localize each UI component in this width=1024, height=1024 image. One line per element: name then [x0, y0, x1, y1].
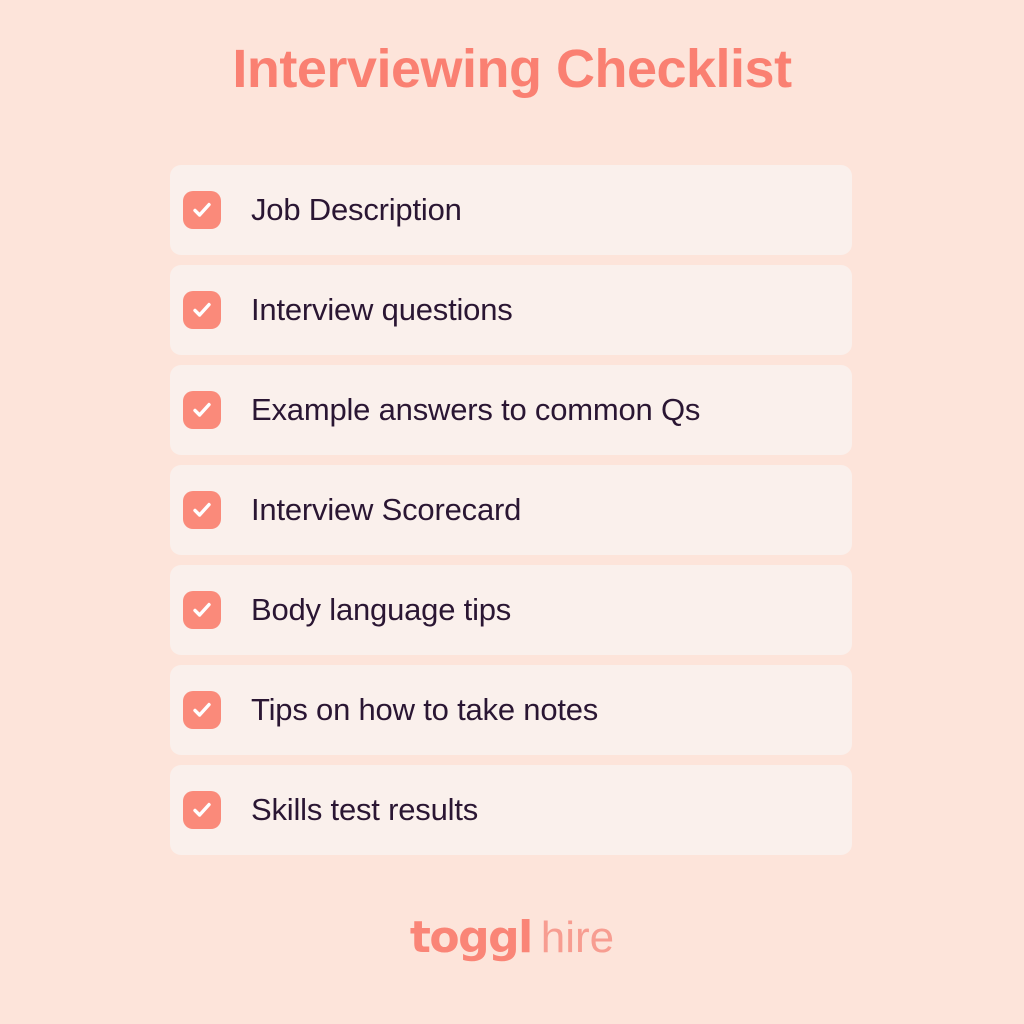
checkbox-checked[interactable]	[183, 491, 221, 529]
toggl-hire-logo: togglhire	[0, 910, 1024, 976]
logo-toggl-wordmark: toggl	[410, 912, 532, 963]
checklist: Job DescriptionInterview questionsExampl…	[170, 165, 852, 855]
checkbox-checked[interactable]	[183, 791, 221, 829]
checkmark-icon	[190, 198, 214, 222]
checkmark-icon	[190, 698, 214, 722]
checklist-item-label: Interview Scorecard	[251, 491, 521, 529]
page-title: Interviewing Checklist	[0, 36, 1024, 102]
checkmark-icon	[190, 598, 214, 622]
checkbox-checked[interactable]	[183, 591, 221, 629]
checklist-row[interactable]: Tips on how to take notes	[170, 665, 852, 755]
checkbox-checked[interactable]	[183, 291, 221, 329]
checklist-infographic: Interviewing Checklist Job DescriptionIn…	[0, 0, 1024, 1024]
checklist-row[interactable]: Job Description	[170, 165, 852, 255]
checkmark-icon	[190, 298, 214, 322]
checkmark-icon	[190, 398, 214, 422]
checklist-item-label: Job Description	[251, 191, 462, 229]
checkbox-checked[interactable]	[183, 191, 221, 229]
checklist-item-label: Interview questions	[251, 291, 513, 329]
checklist-row[interactable]: Example answers to common Qs	[170, 365, 852, 455]
checklist-item-label: Example answers to common Qs	[251, 391, 700, 429]
checkmark-icon	[190, 498, 214, 522]
checklist-row[interactable]: Skills test results	[170, 765, 852, 855]
checklist-row[interactable]: Interview Scorecard	[170, 465, 852, 555]
checklist-item-label: Tips on how to take notes	[251, 691, 598, 729]
checklist-row[interactable]: Body language tips	[170, 565, 852, 655]
checklist-item-label: Body language tips	[251, 591, 511, 629]
checklist-row[interactable]: Interview questions	[170, 265, 852, 355]
checkmark-icon	[190, 798, 214, 822]
logo-hire-wordmark: hire	[541, 913, 614, 962]
checklist-item-label: Skills test results	[251, 791, 478, 829]
checkbox-checked[interactable]	[183, 691, 221, 729]
checkbox-checked[interactable]	[183, 391, 221, 429]
